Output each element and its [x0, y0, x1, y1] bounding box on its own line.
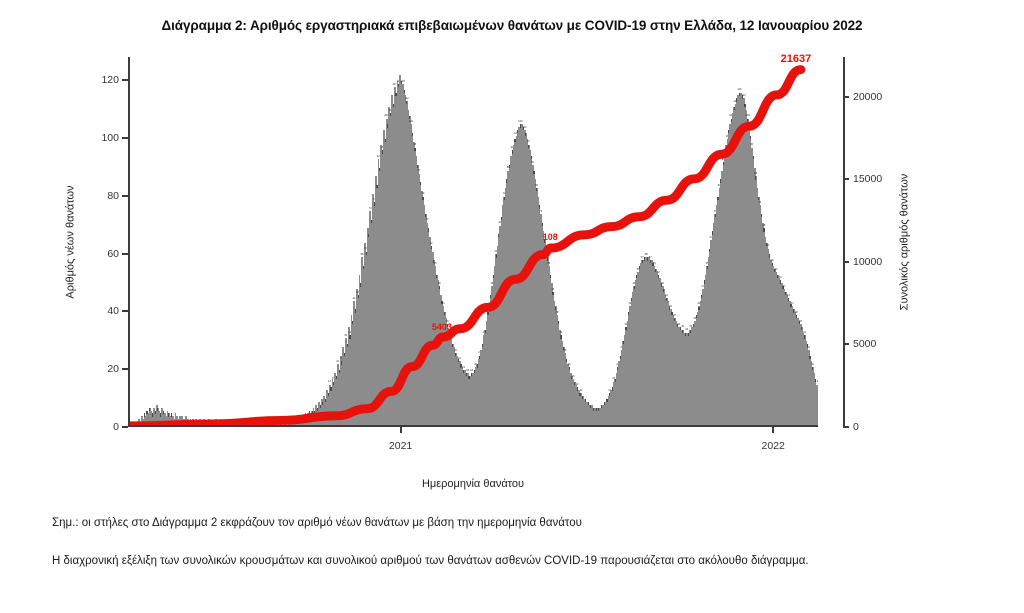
y2-tick-label: 0 [843, 421, 859, 433]
footnote-1: Σημ.: οι στήλες στο Διάγραμμα 2 εκφράζου… [52, 515, 952, 533]
y-tick-label: 20 [107, 363, 128, 375]
y-tick-label: 0 [113, 421, 128, 433]
cumulative-annotation: 21637 [781, 53, 812, 65]
right-axis-line [843, 57, 845, 427]
document-page: Διάγραμμα 2: Αριθμός εργαστηριακά επιβεβ… [0, 0, 1024, 613]
y2-tick-label: 20000 [843, 91, 882, 103]
y2-tick-label: 10000 [843, 256, 882, 268]
cumulative-annotation: 5403 [432, 322, 452, 332]
page-title: Διάγραμμα 2: Αριθμός εργαστηριακά επιβεβ… [0, 18, 1024, 33]
y-axis-title: Αριθμός νέων θανάτων [62, 57, 80, 427]
y-tick-label: 60 [107, 248, 128, 260]
plot-frame: 1415212230314345586074779295106108117118… [128, 57, 818, 427]
x-tick-label: 2021 [389, 440, 412, 452]
x-tick-mark [772, 427, 774, 433]
y-tick-label: 80 [107, 190, 128, 202]
chart-plot: 1415212230314345586074779295106108117118… [128, 57, 818, 427]
y-tick-label: 100 [101, 132, 128, 144]
footnote-2: Η διαχρονική εξέλιξη των συνολικών κρουσ… [52, 553, 940, 571]
cumulative-deaths-line [130, 57, 818, 426]
y-axis-title-text: Αριθμός νέων θανάτων [65, 185, 77, 298]
y-tick-label: 120 [101, 74, 128, 86]
x-axis-title: Ημερομηνία θανάτου [128, 478, 818, 490]
y2-axis-title: Συνολικός αριθμός θανάτων [895, 57, 913, 427]
cumulative-annotation: 108 [543, 232, 558, 242]
x-tick-label: 2022 [762, 440, 785, 452]
y2-tick-label: 15000 [843, 173, 882, 185]
x-tick-mark [400, 427, 402, 433]
y2-axis-title-text: Συνολικός αριθμός θανάτων [898, 174, 910, 311]
y2-tick-label: 5000 [843, 338, 876, 350]
y-tick-label: 40 [107, 305, 128, 317]
